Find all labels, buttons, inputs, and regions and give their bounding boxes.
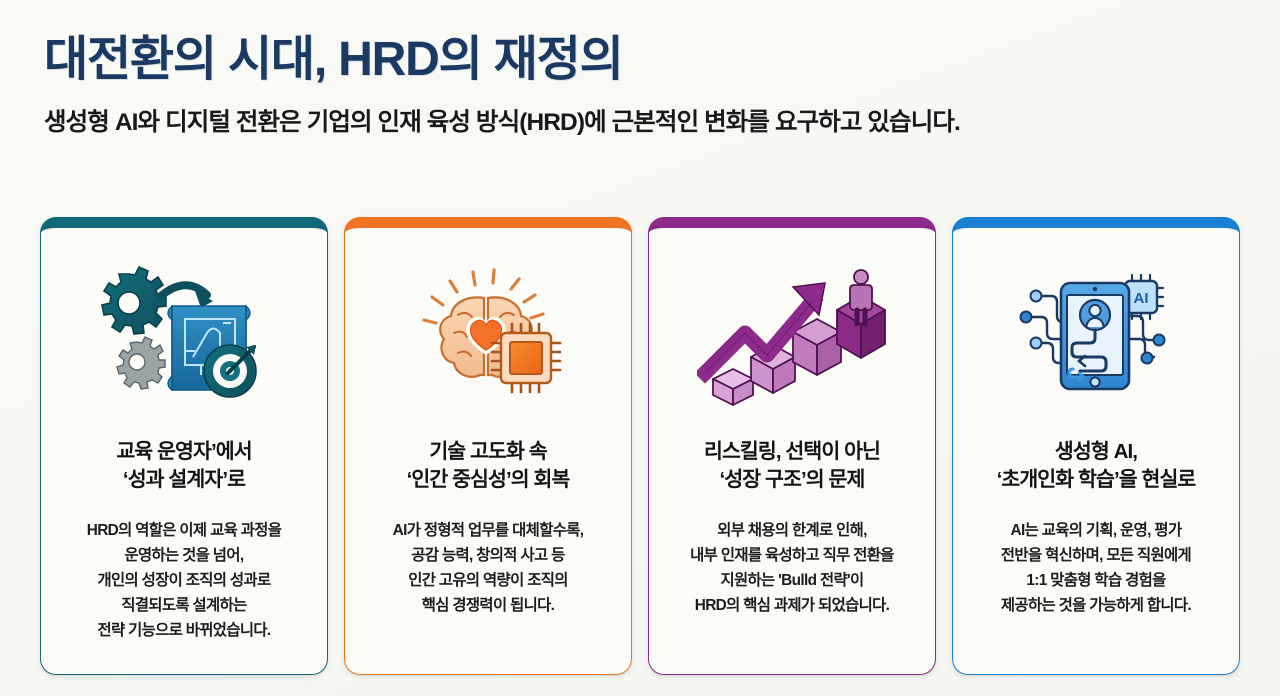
card-row: 교육 운영자’에서 ‘성과 설계자’로 HRD의 역할은 이제 교육 과정을 운…	[40, 217, 1240, 677]
card-heading: 기술 고도화 속 ‘인간 중심성’의 회복	[407, 438, 570, 493]
brain-heart-chip-icon	[359, 236, 617, 436]
card-heading: 생성형 AI, ‘초개인화 학습’을 현실로	[997, 438, 1196, 493]
card-heading: 교육 운영자’에서 ‘성과 설계자’로	[116, 438, 251, 493]
infographic-page: 대전환의 시대, HRD의 재정의 생성형 AI와 디지털 전환은 기업의 인재…	[0, 0, 1280, 696]
card-body: 외부 채용의 한계로 인해, 내부 인재를 육성하고 직무 전환을 지원하는 '…	[690, 519, 894, 619]
card-genai-hyperpersonalization[interactable]: AI	[952, 217, 1240, 675]
card-heading: 리스킬링, 선택이 아닌 ‘성장 구조’의 문제	[704, 438, 880, 493]
card-hrd-role-shift[interactable]: 교육 운영자’에서 ‘성과 설계자’로 HRD의 역할은 이제 교육 과정을 운…	[40, 217, 328, 675]
card-reskilling-growth[interactable]: 리스킬링, 선택이 아닌 ‘성장 구조’의 문제 외부 채용의 한계로 인해, …	[648, 217, 936, 675]
header: 대전환의 시대, HRD의 재정의 생성형 AI와 디지털 전환은 기업의 인재…	[0, 0, 1280, 137]
growth-blocks-person-icon	[663, 236, 921, 436]
card-body: AI는 교육의 기획, 운영, 평가 전반을 혁신하며, 모든 직원에게 1:1…	[1001, 519, 1191, 619]
page-subtitle: 생성형 AI와 디지털 전환은 기업의 인재 육성 방식(HRD)에 근본적인 …	[44, 108, 1280, 137]
page-title: 대전환의 시대, HRD의 재정의	[44, 34, 1280, 86]
svg-text:AI: AI	[1134, 290, 1149, 307]
card-human-centricity[interactable]: 기술 고도화 속 ‘인간 중심성’의 회복 AI가 정형적 업무를 대체할수록,…	[344, 217, 632, 675]
tablet-ai-learning-path-icon: AI	[967, 236, 1225, 436]
card-body: HRD의 역할은 이제 교육 과정을 운영하는 것을 넘어, 개인의 성장이 조…	[87, 519, 282, 644]
gears-blueprint-target-icon	[55, 236, 313, 436]
card-body: AI가 정형적 업무를 대체할수록, 공감 능력, 창의적 사고 등 인간 고유…	[393, 519, 584, 619]
